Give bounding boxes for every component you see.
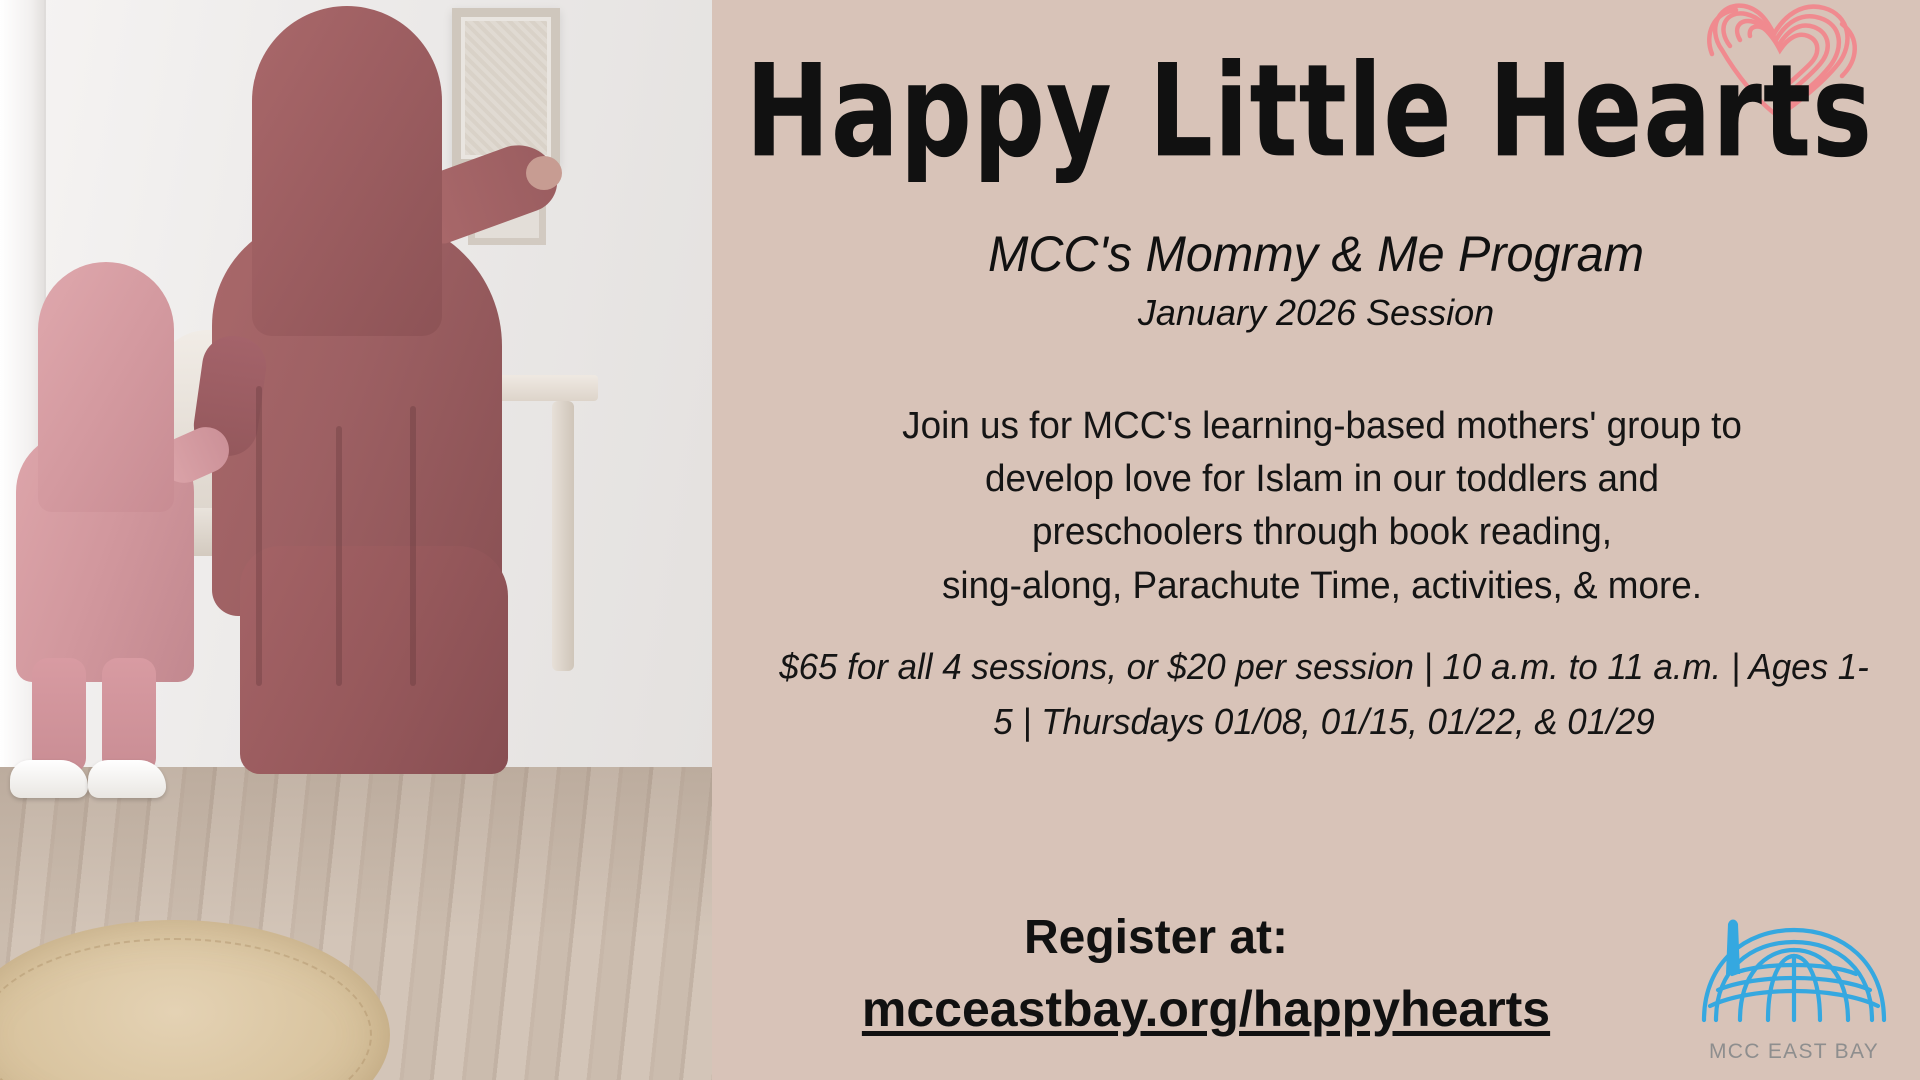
logo-label: MCC EAST BAY: [1694, 1040, 1894, 1064]
flyer-details: $65 for all 4 sessions, or $20 per sessi…: [777, 640, 1871, 749]
description-line-2: develop love for Islam in our toddlers a…: [777, 453, 1867, 506]
description-line-1: Join us for MCC's learning-based mothers…: [777, 400, 1867, 453]
minaret-icon: [1726, 920, 1740, 975]
description-line-3: preschoolers through book reading,: [777, 506, 1867, 559]
register-url-link[interactable]: mcceastbay.org/happyhearts: [752, 980, 1660, 1038]
register-label: Register at:: [772, 910, 1540, 965]
globe-icon: [1694, 916, 1894, 1040]
photo-panel: [0, 0, 712, 1080]
photo-child-figure: [10, 262, 220, 782]
mcc-east-bay-logo: MCC EAST BAY: [1694, 916, 1894, 1066]
flyer-session: January 2026 Session: [712, 292, 1920, 334]
content-panel: Happy Little Hearts MCC's Mommy & Me Pro…: [712, 0, 1920, 1080]
flyer-title: Happy Little Hearts: [736, 48, 1896, 176]
flyer-root: Happy Little Hearts MCC's Mommy & Me Pro…: [0, 0, 1920, 1080]
description-line-4: sing-along, Parachute Time, activities, …: [777, 560, 1867, 613]
flyer-subtitle: MCC's Mommy & Me Program: [730, 228, 1902, 281]
photo-mother-figure: [196, 6, 536, 766]
flyer-description: Join us for MCC's learning-based mothers…: [777, 400, 1867, 613]
